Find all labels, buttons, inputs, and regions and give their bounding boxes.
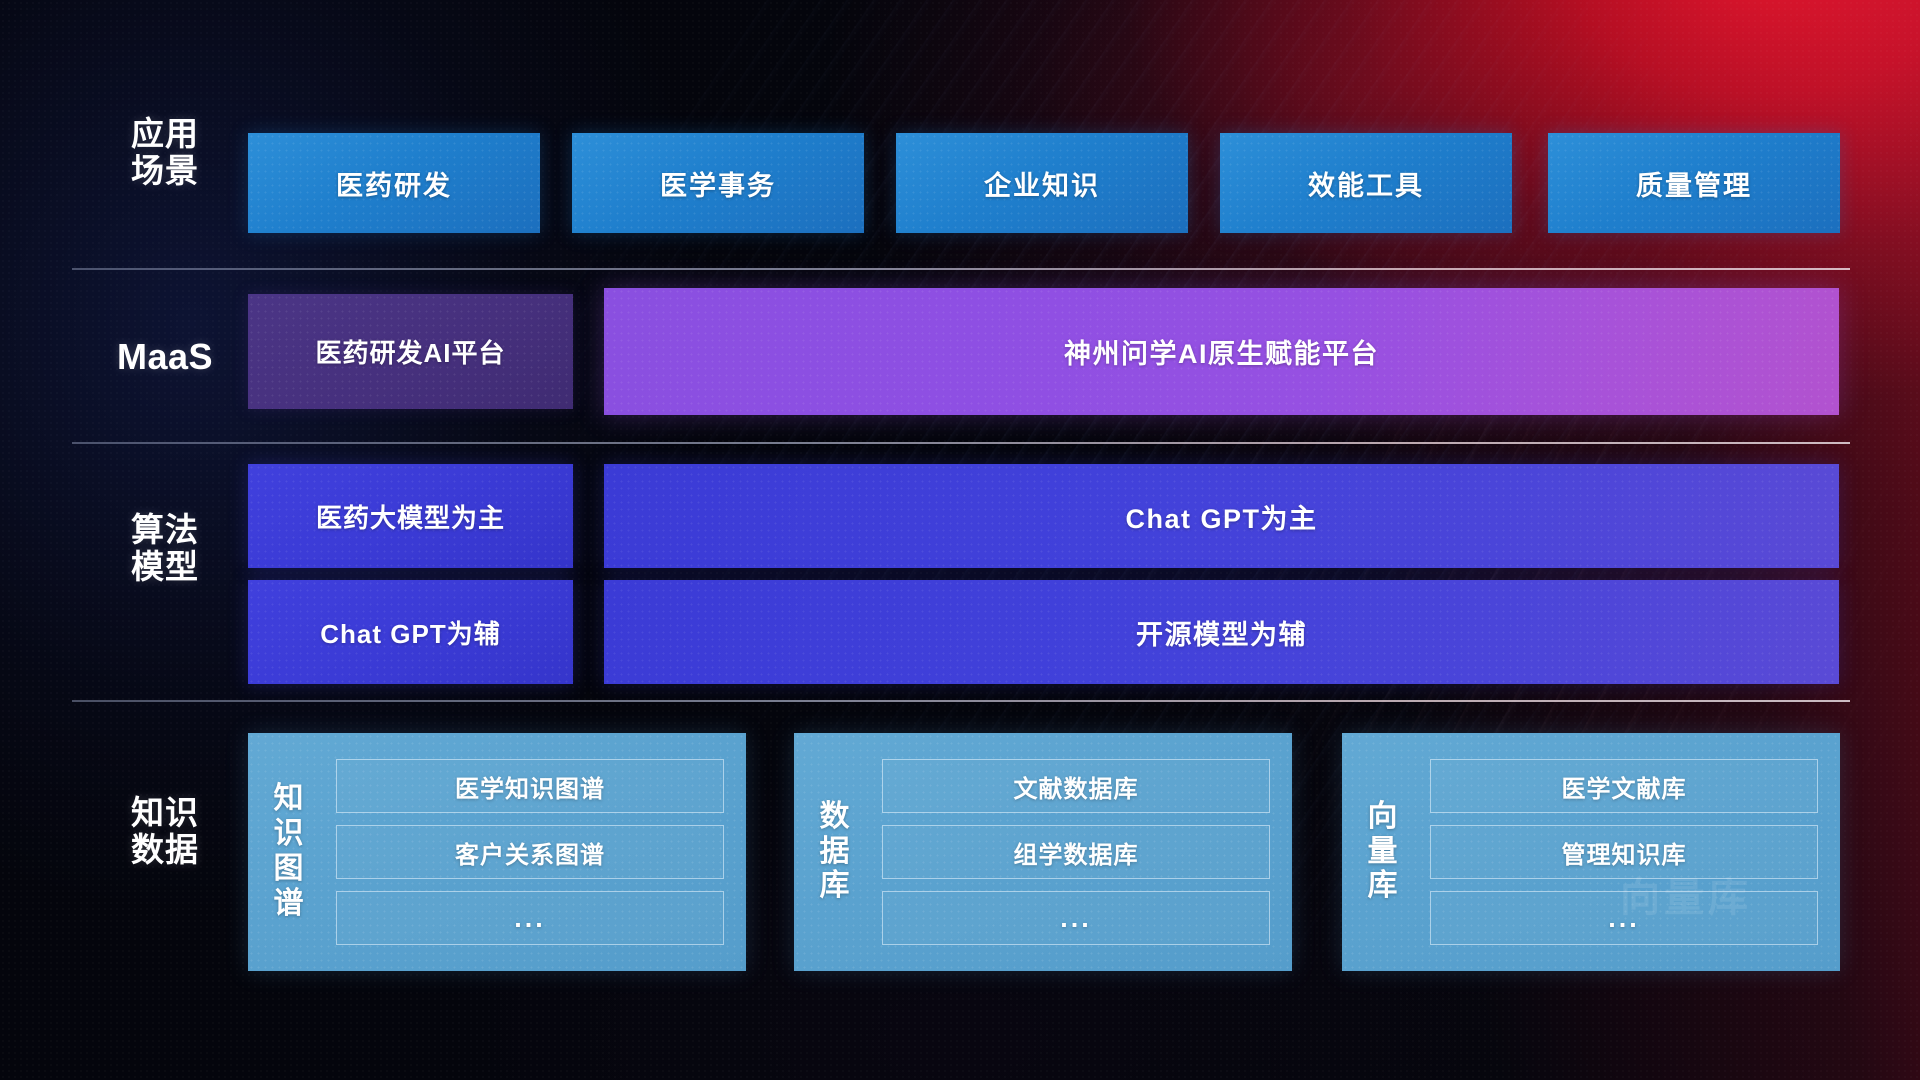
knowledge-panel-database: 数 据 库 文献数据库 组学数据库 ... — [794, 733, 1292, 971]
app-box-label: 企业知识 — [984, 164, 1100, 203]
knowledge-panel-label: 向 量 库 — [1342, 800, 1424, 904]
algorithm-box-label: 医药大模型为主 — [316, 498, 505, 535]
row-label-algorithm: 算法 模型 — [92, 512, 238, 586]
maas-box-label: 神州问学AI原生赋能平台 — [1064, 332, 1379, 371]
knowledge-panel-label: 知 识 图 谱 — [248, 782, 330, 921]
maas-box-label: 医药研发AI平台 — [315, 333, 505, 370]
knowledge-item-more[interactable]: ... — [882, 891, 1270, 945]
knowledge-panel-label: 数 据 库 — [794, 800, 876, 904]
app-box-drug-rd[interactable]: 医药研发 — [248, 133, 540, 233]
knowledge-panel-items: 文献数据库 组学数据库 ... — [876, 733, 1292, 971]
app-box-label: 医药研发 — [336, 164, 452, 203]
app-box-enterprise-knowledge[interactable]: 企业知识 — [896, 133, 1188, 233]
divider-maas-algorithm — [72, 442, 1850, 444]
algorithm-box-label: Chat GPT为主 — [1125, 497, 1317, 536]
diagram-canvas: 应用 场景 医药研发 医学事务 企业知识 效能工具 质量管理 MaaS 医药研发… — [0, 0, 1920, 1080]
algorithm-box-secondary-right[interactable]: 开源模型为辅 — [604, 580, 1839, 684]
knowledge-item[interactable]: 医学知识图谱 — [336, 759, 724, 813]
knowledge-panel-items: 医学文献库 管理知识库 ... — [1424, 733, 1840, 971]
knowledge-item-more[interactable]: ... — [336, 891, 724, 945]
row-label-maas-text: MaaS — [92, 337, 238, 377]
maas-box-shenzhou-wenxue-platform[interactable]: 神州问学AI原生赋能平台 — [604, 288, 1839, 415]
algorithm-box-label: 开源模型为辅 — [1136, 613, 1307, 652]
knowledge-item-more[interactable]: ... — [1430, 891, 1818, 945]
app-box-label: 效能工具 — [1308, 164, 1424, 203]
app-box-label: 医学事务 — [660, 164, 776, 203]
algorithm-box-secondary-left[interactable]: Chat GPT为辅 — [248, 580, 573, 684]
knowledge-item[interactable]: 组学数据库 — [882, 825, 1270, 879]
maas-box-drug-rd-ai-platform[interactable]: 医药研发AI平台 — [248, 294, 573, 409]
knowledge-panel-items: 医学知识图谱 客户关系图谱 ... — [330, 733, 746, 971]
app-box-quality-management[interactable]: 质量管理 — [1548, 133, 1840, 233]
algorithm-box-primary-right[interactable]: Chat GPT为主 — [604, 464, 1839, 568]
app-box-label: 质量管理 — [1636, 164, 1752, 203]
app-box-medical-affairs[interactable]: 医学事务 — [572, 133, 864, 233]
divider-algorithm-knowledge — [72, 700, 1850, 702]
algorithm-box-primary-left[interactable]: 医药大模型为主 — [248, 464, 573, 568]
knowledge-item[interactable]: 客户关系图谱 — [336, 825, 724, 879]
row-label-application: 应用 场景 — [92, 116, 238, 190]
divider-application-maas — [72, 268, 1850, 270]
algorithm-box-label: Chat GPT为辅 — [320, 614, 500, 651]
knowledge-item[interactable]: 文献数据库 — [882, 759, 1270, 813]
app-box-efficiency-tools[interactable]: 效能工具 — [1220, 133, 1512, 233]
row-label-maas: MaaS — [92, 337, 238, 377]
knowledge-item[interactable]: 管理知识库 — [1430, 825, 1818, 879]
knowledge-panel-vector-store: 向 量 库 医学文献库 管理知识库 ... 向量库 — [1342, 733, 1840, 971]
knowledge-panel-graph: 知 识 图 谱 医学知识图谱 客户关系图谱 ... — [248, 733, 746, 971]
knowledge-item[interactable]: 医学文献库 — [1430, 759, 1818, 813]
row-label-knowledge: 知识 数据 — [92, 795, 238, 869]
